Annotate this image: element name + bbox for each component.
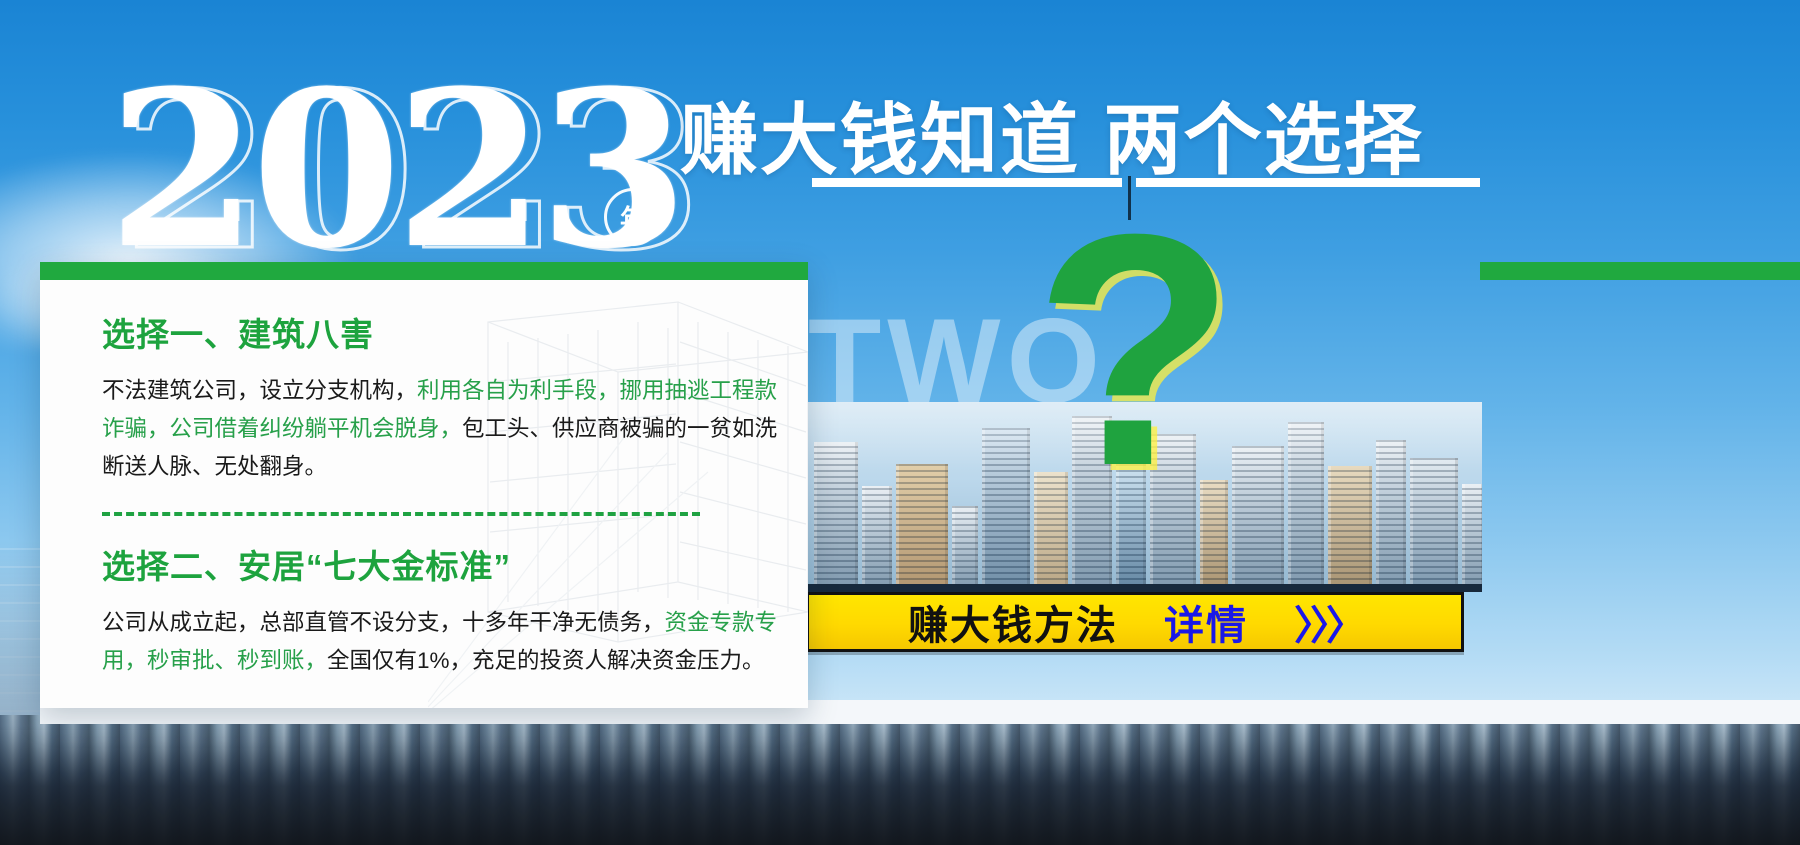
section-one-title: 选择一、建筑八害 <box>102 308 780 356</box>
cta-detail-link[interactable]: 详情 <box>1164 593 1248 651</box>
green-accent-bar <box>1480 262 1800 280</box>
section-one-text: 不法建筑公司，设立分支机构，利用各自为利手段，挪用抽逃工程款诈骗，公司借着纠纷躺… <box>102 372 780 486</box>
waterfront-photo-strip <box>0 715 1800 845</box>
section-two-title: 选择二、安居“七大金标准” <box>102 540 780 588</box>
question-mark-icon: ? <box>1034 200 1236 500</box>
year-unit-badge: 年 <box>604 188 662 246</box>
headline-rule-right <box>1136 178 1480 187</box>
content-card: 选择一、建筑八害 不法建筑公司，设立分支机构，利用各自为利手段，挪用抽逃工程款诈… <box>40 262 808 708</box>
headline-rule-left <box>812 178 1122 187</box>
section-two-text: 公司从成立起，总部直管不设分支，十多年干净无债务，资金专款专用，秒审批、秒到账，… <box>102 604 780 680</box>
section-divider <box>102 512 700 516</box>
right-visual-panel: TWO CHOOSE ? <box>806 188 1482 654</box>
skyline-baseline <box>806 584 1482 592</box>
page-title: 赚大钱知道 两个选择 <box>680 78 1424 190</box>
text-part-black-4: 全国仅有1%，充足的投资人解决资金压力。 <box>327 648 765 673</box>
cta-banner[interactable]: 赚大钱方法 详情 〉〉〉 <box>806 592 1464 652</box>
cta-main-label: 赚大钱方法 <box>908 593 1118 651</box>
headline-underline-group <box>812 178 1480 188</box>
year-decoration: 2023 2023 <box>108 62 728 282</box>
banner-stage: 2023 2023 年 赚大钱知道 两个选择 TWO CHOOSE <box>0 0 1800 845</box>
text-part-black: 不法建筑公司，设立分支机构， <box>102 378 417 403</box>
year-number-outline: 2023 <box>122 64 696 279</box>
card-content: 选择一、建筑八害 不法建筑公司，设立分支机构，利用各自为利手段，挪用抽逃工程款诈… <box>102 308 780 680</box>
card-top-accent <box>40 262 808 280</box>
text-part-black-3: 公司从成立起，总部直管不设分支，十多年干净无债务， <box>102 610 665 635</box>
chevron-right-icon: 〉〉〉 <box>1294 593 1362 651</box>
